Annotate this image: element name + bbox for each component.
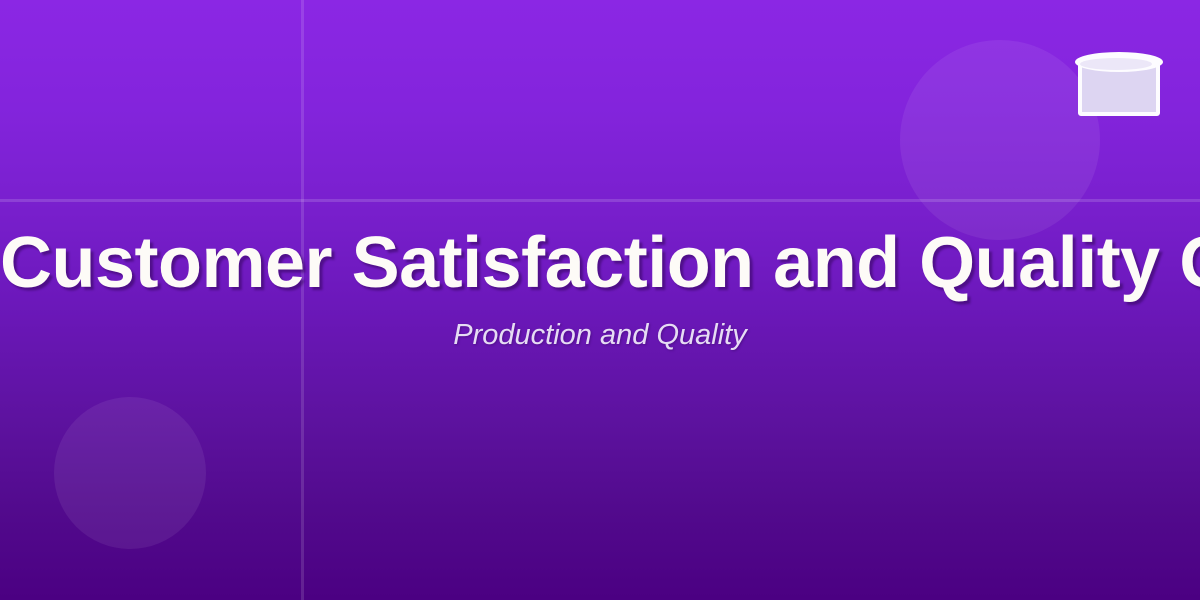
bottom-left-circle <box>54 397 206 549</box>
slide-text-block: Customer Satisfaction and Quality Guaran… <box>0 225 1200 352</box>
container-jar-cap <box>1075 52 1163 72</box>
presentation-slide: Customer Satisfaction and Quality Guaran… <box>0 0 1200 600</box>
slide-title: Customer Satisfaction and Quality Guaran… <box>0 225 1200 301</box>
container-jar-icon <box>1078 52 1160 116</box>
container-jar-cap-inner <box>1080 58 1152 70</box>
top-right-circle <box>900 40 1100 240</box>
horizontal-guide-line <box>0 199 1200 202</box>
slide-subtitle: Production and Quality <box>0 319 1200 352</box>
